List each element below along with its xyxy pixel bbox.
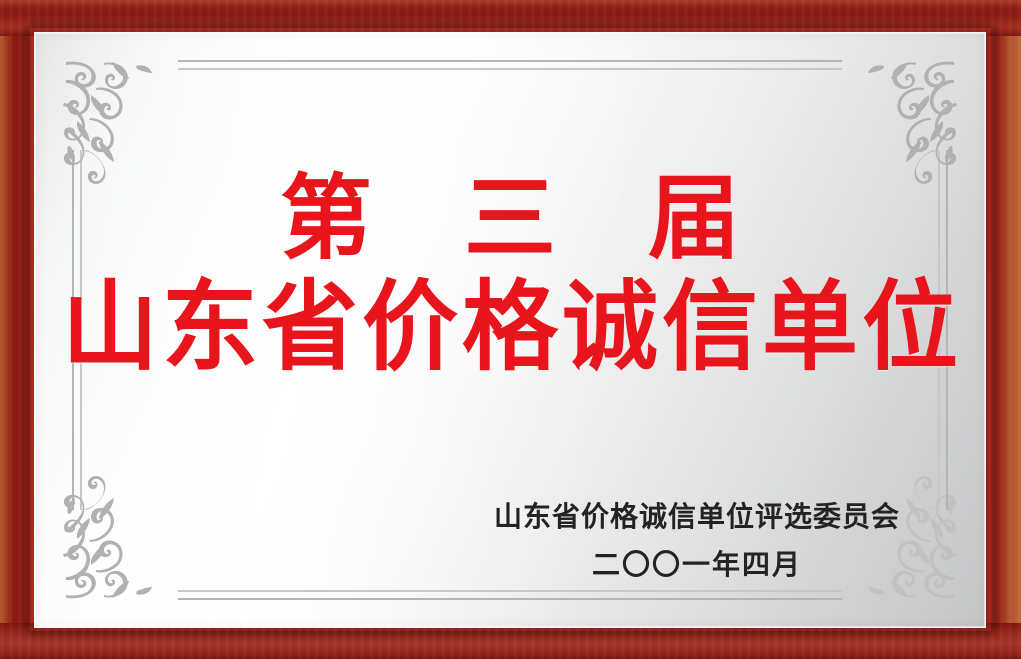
award-plaque: 第 三 届 山东省价格诚信单位 山东省价格诚信单位评选委员会 二〇〇一年四月 [0,0,1021,659]
rule-top-inner [178,68,842,70]
plate-bevel [34,32,986,628]
award-signature: 山东省价格诚信单位评选委员会 二〇〇一年四月 [482,498,912,584]
rule-top-outer [178,60,842,62]
rule-left-outer [72,150,74,510]
wood-frame-bottom-rail [0,623,1021,659]
rule-bottom-inner [178,590,842,592]
corner-flourish-ornament-top-left [60,58,188,186]
rule-left-inner [80,150,82,510]
rule-bottom-outer [178,598,842,600]
plate-sheen [34,32,986,628]
corner-flourish-ornament-top-right [832,58,960,186]
rule-right-outer [946,150,948,510]
issuing-organization: 山东省价格诚信单位评选委员会 [482,498,912,536]
award-title-line-1: 第 三 届 [34,170,986,267]
corner-flourish-ornament-bottom-right [832,474,960,602]
corner-flourish-ornament-bottom-left [60,474,188,602]
rule-right-inner [938,150,940,510]
issue-date: 二〇〇一年四月 [482,546,912,584]
metal-plate: 第 三 届 山东省价格诚信单位 山东省价格诚信单位评选委员会 二〇〇一年四月 [34,32,986,628]
wood-frame-top-rail [0,0,1021,36]
award-title-line-2: 山东省价格诚信单位 [34,274,986,380]
award-title: 第 三 届 山东省价格诚信单位 [34,170,986,378]
